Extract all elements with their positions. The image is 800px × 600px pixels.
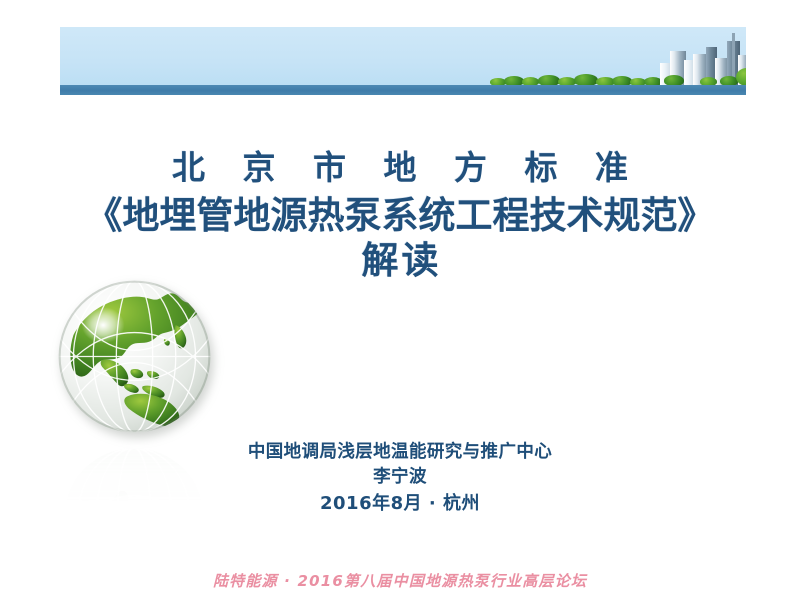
title-block: 北 京 市 地 方 标 准 《地埋管地源热泵系统工程技术规范》 解读 xyxy=(0,150,800,282)
globe-icon xyxy=(52,274,217,439)
presenter-block: 中国地调局浅层地温能研究与推广中心 李宁波 2016年8月 · 杭州 xyxy=(0,440,800,517)
presenter-date-location: 2016年8月 · 杭州 xyxy=(0,491,800,517)
banner-bottom-bar xyxy=(60,85,746,95)
footer-conference-banner: 陆特能源 · 2016第八届中国地源热泵行业高层论坛 xyxy=(0,570,800,591)
title-line-standard-title: 《地埋管地源热泵系统工程技术规范》 xyxy=(0,195,800,236)
presentation-slide: 北 京 市 地 方 标 准 《地埋管地源热泵系统工程技术规范》 解读 xyxy=(0,0,800,600)
presenter-organization: 中国地调局浅层地温能研究与推广中心 xyxy=(0,440,800,465)
header-banner xyxy=(60,27,746,95)
presenter-name: 李宁波 xyxy=(0,465,800,490)
banner-sky xyxy=(60,27,746,85)
title-line-standard-name: 北 京 市 地 方 标 准 xyxy=(0,150,800,187)
